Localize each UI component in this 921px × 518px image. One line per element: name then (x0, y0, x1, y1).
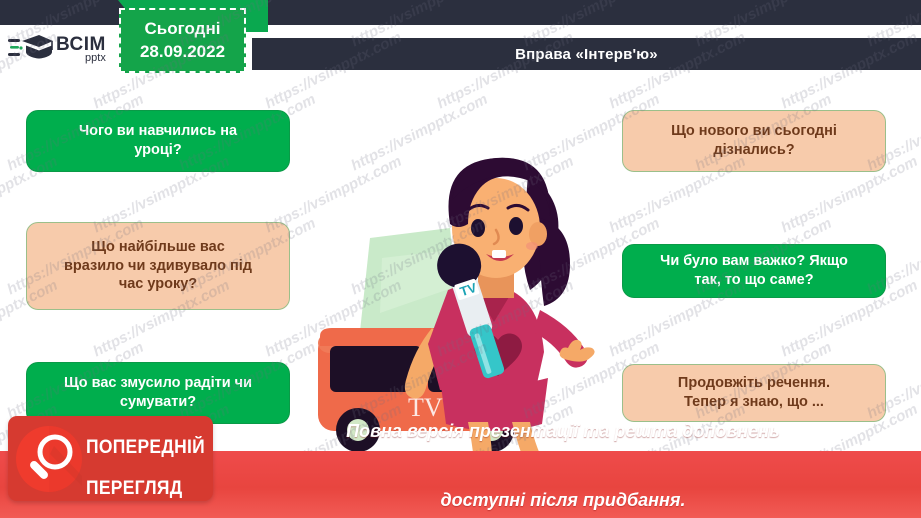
preview-badge-line1: ПОПЕРЕДНІЙ (86, 437, 205, 458)
brand-logo-text: ВСІМ pptx (56, 35, 106, 64)
slide-canvas: ВСІМ pptx Сьогодні 28.09.2022 Вправа «Ін… (0, 0, 921, 518)
preview-badge-line2: ПЕРЕГЛЯД (86, 478, 183, 499)
question-bubble-3[interactable]: Що найбільше вас вразило чи здивувало пі… (26, 222, 290, 310)
date-badge-value: 28.09.2022 (140, 41, 225, 64)
date-badge-label: Сьогодні (145, 18, 221, 41)
brand-logo: ВСІМ pptx (0, 25, 120, 73)
magnifier-icon (14, 424, 84, 494)
graduation-cap-icon (8, 32, 54, 66)
purchase-banner-text: Повна версія презентації та решта доповн… (215, 397, 911, 512)
preview-badge-label: ПОПЕРЕДНІЙ ПЕРЕГЛЯД (86, 418, 205, 499)
brand-name: ВСІМ (56, 35, 106, 54)
question-bubble-4[interactable]: Чи було вам важко? Якщо так, то що саме? (622, 244, 886, 298)
question-bubble-1[interactable]: Чого ви навчились на уроці? (26, 110, 290, 172)
date-badge: Сьогодні 28.09.2022 (119, 8, 246, 73)
question-bubble-2[interactable]: Що нового ви сьогодні дізнались? (622, 110, 886, 172)
preview-badge[interactable]: ПОПЕРЕДНІЙ ПЕРЕГЛЯД (8, 416, 213, 501)
slide-title-bar: Вправа «Інтерв'ю» (252, 38, 921, 70)
slide-title: Вправа «Інтерв'ю» (515, 46, 658, 63)
purchase-banner-line2: доступні після придбання. (441, 490, 686, 510)
purchase-banner-line1: Повна версія презентації та решта доповн… (346, 421, 780, 441)
